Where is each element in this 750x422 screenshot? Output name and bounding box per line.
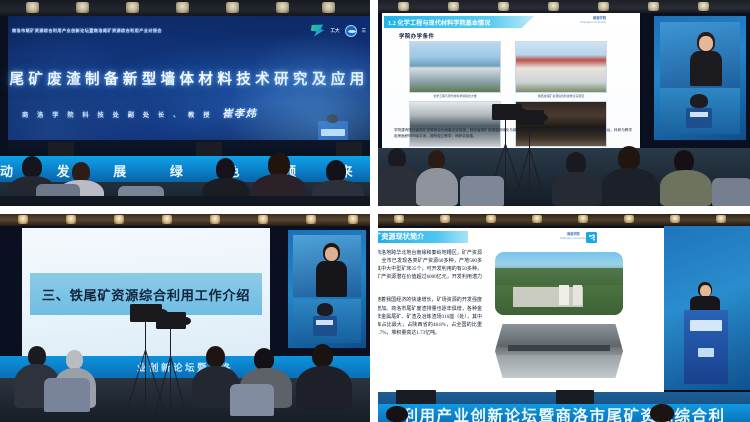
podium-lower-plate xyxy=(698,348,714,357)
photo-panel-bottom-right: 矿资源现状简介 商洛学院 Shangluo University 商洛地跨华北地… xyxy=(378,214,750,422)
video-wall-live-feed xyxy=(660,22,740,88)
speaker-credential-line: 商 洛 学 院 科 技 处 副 处 长 、 教 授崔孝炜 xyxy=(22,106,257,121)
stage-podium xyxy=(684,310,728,384)
led-stage-screen: 商洛市尾矿资源综合利用产业创新论坛暨商洛尾矿资源综合利用产业对接会 工大 三 尾… xyxy=(8,16,370,156)
university-brand: 商洛学院 Shangluo University xyxy=(560,233,587,240)
conference-chair-back xyxy=(460,176,504,206)
stage-podium-silhouette xyxy=(686,108,712,128)
audience-head xyxy=(28,346,46,366)
university-brand: 商洛学院 Shangluo University xyxy=(580,17,606,24)
slide-subtitle: 学院办学条件 xyxy=(399,32,434,40)
logo-label-two: 三 xyxy=(362,28,367,34)
audience-shoulder xyxy=(552,172,602,206)
slide-title-text: 矿资源现状简介 xyxy=(378,232,424,242)
slide-photo-1: 化学工程与现代材料学院综合大楼 xyxy=(409,41,501,93)
video-wall-live-feed xyxy=(293,235,361,297)
audience-head xyxy=(72,162,90,182)
stage-podium-silhouette xyxy=(313,316,337,336)
audience-head xyxy=(326,160,346,182)
photo-panel-top-right: 1.2 化学工程与现代材料学院基本情况 商洛学院 Shangluo Univer… xyxy=(378,0,750,206)
share-icon[interactable] xyxy=(586,232,597,243)
audience-head xyxy=(566,152,586,174)
speaker-title-text: 商 洛 学 院 科 技 处 副 处 长 、 教 授 xyxy=(22,112,213,119)
circle-logo-icon xyxy=(345,25,357,37)
ceiling-lights-strip xyxy=(378,0,750,13)
audience-head xyxy=(386,406,408,422)
speaker-body xyxy=(690,51,722,86)
slide-title-bar: 1.2 化学工程与现代材料学院基本情况 xyxy=(384,16,534,28)
live-feed-speaker xyxy=(315,243,349,297)
camera-lens xyxy=(539,114,548,121)
building-photo-blue xyxy=(409,41,501,93)
stage-speaker-box-mid xyxy=(196,142,222,156)
conference-main-title: 尾矿废渣制备新型墙体材料技术研究及应用 xyxy=(8,68,370,89)
photo-panel-top-left: 商洛市尾矿资源综合利用产业创新论坛暨商洛尾矿资源综合利用产业对接会 工大 三 尾… xyxy=(0,0,370,206)
audience-shoulder xyxy=(378,166,420,206)
slide-photo-river-tailings xyxy=(495,324,623,378)
audience-head xyxy=(674,150,694,172)
side-video-wall xyxy=(288,230,366,348)
presentation-slide: 矿资源现状简介 商洛学院 Shangluo University 商洛地跨华北地… xyxy=(378,228,664,392)
ceiling-lights-strip xyxy=(378,214,750,226)
stage-riser-banner: 利用产业创新论坛暨商洛市尾矿资源综合利 xyxy=(378,404,750,422)
ceiling-lights-strip xyxy=(0,0,370,16)
podium-name-plate xyxy=(321,129,345,136)
speaker-face xyxy=(699,36,713,51)
speaker-body xyxy=(316,261,347,297)
slide-paragraph-1: 商洛地跨华北地台南缘和秦岭地槽区，矿产资源丰富。全市已发现各类矿产资源60多种，… xyxy=(378,250,482,290)
audience-shoulder xyxy=(416,168,458,206)
audience-head xyxy=(428,150,445,169)
video-wall-lower-panel xyxy=(293,299,361,343)
audience-shoulder xyxy=(602,168,658,206)
conference-chair-back xyxy=(44,378,90,412)
stage-riser-slogan: 利用产业创新论坛暨商洛市尾矿资源综合利 xyxy=(378,404,750,422)
video-wall-lower-panel xyxy=(660,88,740,134)
stage-riser-slogan: 动 发 展 绿 色 领 来 xyxy=(0,161,370,180)
led-header-strip: 商洛市尾矿资源综合利用产业创新论坛暨商洛尾矿资源综合利用产业对接会 xyxy=(12,28,162,34)
slide-photo-town-aerial xyxy=(495,252,623,315)
audience-shoulder xyxy=(296,366,352,410)
slide-photo-1-caption: 化学工程与现代材料学院综合大楼 xyxy=(409,94,501,98)
slide-title-text: 1.2 化学工程与现代材料学院基本情况 xyxy=(388,18,490,27)
audience-head xyxy=(66,350,83,369)
brand-name-en: Shangluo University xyxy=(580,21,606,24)
audience-head xyxy=(206,346,225,367)
sponsor-logos: 工大 三 xyxy=(310,24,367,37)
audience-head xyxy=(22,156,42,178)
conference-chair-back xyxy=(230,384,274,416)
stage-speaker-silhouette xyxy=(317,303,333,316)
camera-lens xyxy=(180,317,191,325)
brand-name-en: Shangluo University xyxy=(560,237,587,241)
slide-paragraph-2: 随着我国经济的快速增长，矿场资源的开发强度逐年增加。商洛市尾矿废渣排量也逐年俱增… xyxy=(378,297,482,337)
slide-body-text: 商洛地跨华北地台南缘和秦岭地槽区，矿产资源丰富。全市已发现各类矿产资源60多种，… xyxy=(378,250,482,345)
stage-speaker-box-left xyxy=(48,142,74,156)
photo-collage: 商洛市尾矿资源综合利用产业创新论坛暨商洛尾矿资源综合利用产业对接会 工大 三 尾… xyxy=(0,0,750,422)
conference-chair-back xyxy=(712,178,750,206)
swirl-logo-icon xyxy=(310,24,326,37)
slide-photo-2: 陕西省尾矿资源综合利用重点实验室 xyxy=(515,41,607,93)
ceiling-lights-strip xyxy=(0,214,370,226)
logo-label-one: 工大 xyxy=(331,28,340,34)
audience-shoulder xyxy=(660,170,712,206)
audience-head xyxy=(388,148,406,168)
slide-photo-2-caption: 陕西省尾矿资源综合利用重点实验室 xyxy=(515,94,607,98)
speaker-name-text: 崔孝炜 xyxy=(222,109,257,120)
audience-head xyxy=(618,146,640,170)
audience-head xyxy=(650,404,674,422)
audience-head xyxy=(216,158,235,180)
podium-name-plate xyxy=(690,320,722,331)
audience-head xyxy=(312,344,333,367)
photo-panel-bottom-left: 三、铁尾矿资源综合利用工作介绍 业创新论坛暨商洛 xyxy=(0,214,370,422)
live-feed-speaker xyxy=(688,32,724,86)
camera-tripod-right xyxy=(512,110,552,204)
stage-speaker-box-right xyxy=(336,142,362,156)
speaker-face xyxy=(325,247,338,261)
side-video-wall xyxy=(654,16,746,140)
stage-speaker-silhouette xyxy=(690,94,708,108)
camera-tripod-right xyxy=(152,312,196,412)
conference-table-edge xyxy=(0,196,370,206)
audience-head xyxy=(254,348,274,370)
building-photo-red xyxy=(515,41,607,93)
slide-title-bar: 矿资源现状简介 xyxy=(378,231,468,243)
